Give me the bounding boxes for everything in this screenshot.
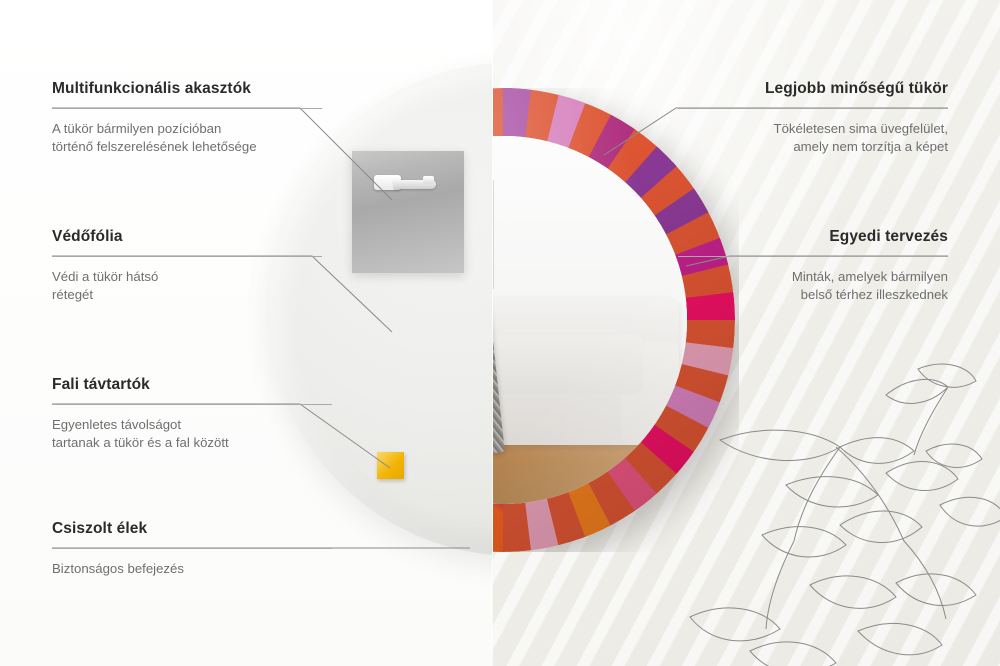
callout-polished-edges: Csiszolt élek Biztonságos befejezés xyxy=(52,520,332,578)
mirror-clip xyxy=(493,88,739,552)
callout-protective-film: Védőfólia Védi a tükör hátsó rétegét xyxy=(52,228,322,305)
callout-title: Fali távtartók xyxy=(52,376,332,395)
callout-title: Multifunkcionális akasztók xyxy=(52,80,322,99)
callout-description: Védi a tükör hátsó rétegét xyxy=(52,268,322,305)
callout-description: A tükör bármilyen pozícióban történő fel… xyxy=(52,120,322,157)
callout-description: Egyenletes távolságot tartanak a tükör é… xyxy=(52,416,332,453)
callout-rule xyxy=(678,256,948,257)
callout-title: Védőfólia xyxy=(52,228,322,247)
infographic-stage: Multifunkcionális akasztók A tükör bármi… xyxy=(0,0,1000,666)
callout-description: Biztonságos befejezés xyxy=(52,560,332,579)
callout-rule xyxy=(52,256,322,257)
callout-rule xyxy=(52,108,322,109)
wall-spacer-square xyxy=(377,452,404,479)
callout-rule xyxy=(52,404,332,405)
callout-description: Tökéletesen sima üvegfelület, amely nem … xyxy=(678,120,948,157)
mirror-glass-sheen xyxy=(493,136,687,503)
callout-wall-spacers: Fali távtartók Egyenletes távolságot tar… xyxy=(52,376,332,453)
callout-title: Csiszolt élek xyxy=(52,520,332,539)
callout-rule xyxy=(678,108,948,109)
callout-best-quality-mirror: Legjobb minőségű tükör Tökéletesen sima … xyxy=(678,80,948,157)
callout-rule xyxy=(52,548,332,549)
callout-multifunctional-hangers: Multifunkcionális akasztók A tükör bármi… xyxy=(52,80,322,157)
mirror-glass xyxy=(493,136,687,503)
hook-detail xyxy=(374,175,436,191)
hanger-plate xyxy=(352,151,464,273)
callout-unique-design: Egyedi tervezés Minták, amelyek bármilye… xyxy=(678,228,948,305)
hook-tip xyxy=(423,176,434,184)
callout-title: Legjobb minőségű tükör xyxy=(678,80,948,99)
callout-description: Minták, amelyek bármilyen belső térhez i… xyxy=(678,268,948,305)
callout-title: Egyedi tervezés xyxy=(678,228,948,247)
round-mirror xyxy=(493,88,735,552)
